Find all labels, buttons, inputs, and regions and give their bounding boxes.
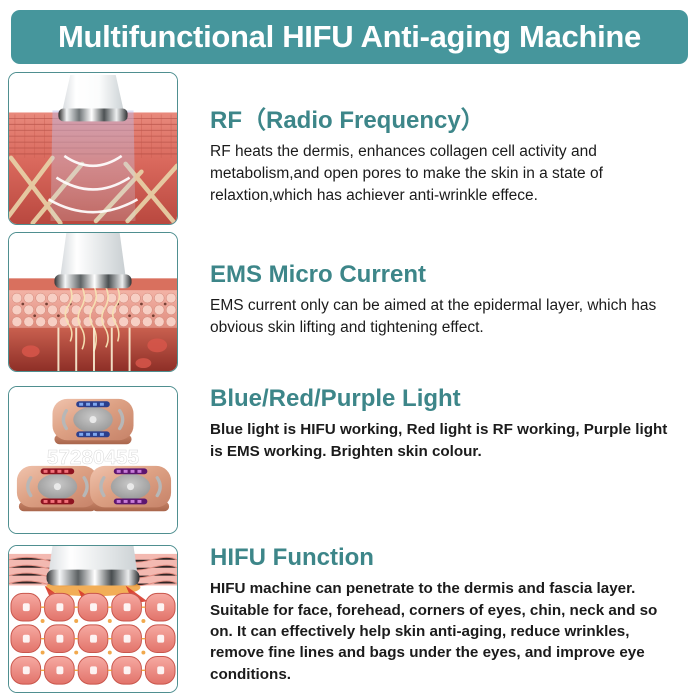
- hifu-heading: HIFU Function: [210, 545, 680, 571]
- light-description: Blue light is HIFU working, Red light is…: [210, 419, 680, 462]
- page-title: Multifunctional HIFU Anti-aging Machine: [58, 19, 641, 55]
- ems-heading: EMS Micro Current: [210, 262, 680, 288]
- hifu-probe-skin-cells-illustration: [9, 546, 177, 692]
- device-blue: [52, 399, 133, 444]
- rf-description: RF heats the dermis, enhances collagen c…: [210, 141, 680, 207]
- hifu-text-column: HIFU Function HIFU machine can penetrate…: [210, 545, 680, 685]
- light-text-column: Blue/Red/Purple Light Blue light is HIFU…: [210, 386, 680, 462]
- ems-probe-epidermis-illustration: [9, 233, 177, 371]
- three-devices-led-colors-illustration: 57280455: [9, 387, 177, 533]
- device-red: [17, 466, 98, 511]
- hifu-image-panel: [8, 545, 178, 693]
- rf-heading: RF（Radio Frequency）: [210, 108, 680, 134]
- light-image-panel: 57280455: [8, 386, 178, 534]
- hifu-description: HIFU machine can penetrate to the dermis…: [210, 578, 680, 684]
- light-heading: Blue/Red/Purple Light: [210, 386, 680, 412]
- header-banner: Multifunctional HIFU Anti-aging Machine: [11, 10, 688, 64]
- device-purple: [90, 466, 171, 511]
- rf-probe-dermis-illustration: [9, 73, 177, 224]
- watermark-text: 57280455: [47, 446, 139, 469]
- rf-image-panel: [8, 72, 178, 225]
- ems-image-panel: [8, 232, 178, 372]
- rf-text-column: RF（Radio Frequency） RF heats the dermis,…: [210, 108, 680, 207]
- ems-description: EMS current only can be aimed at the epi…: [210, 295, 680, 339]
- ems-text-column: EMS Micro Current EMS current only can b…: [210, 262, 680, 339]
